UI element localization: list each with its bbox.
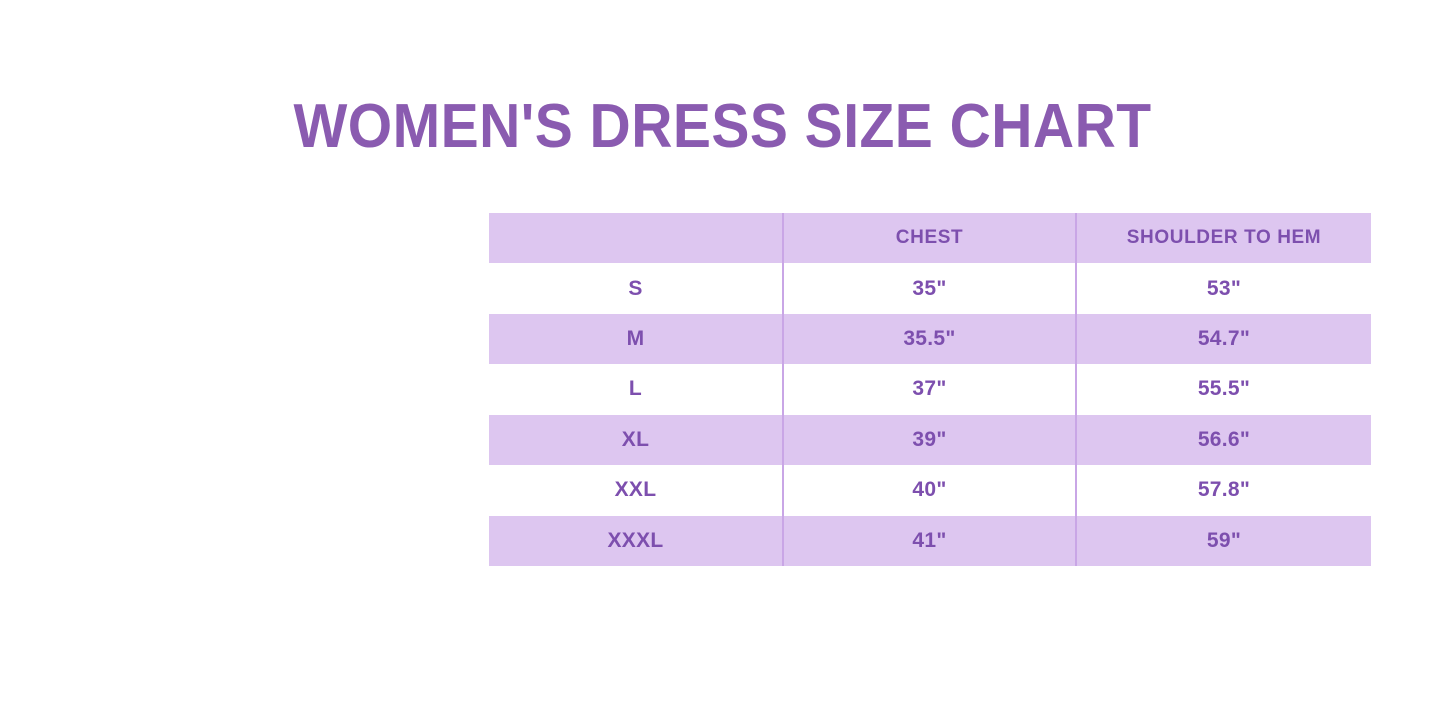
table-header-row: CHEST SHOULDER TO HEM xyxy=(489,213,1371,263)
cell-size: M xyxy=(489,314,783,364)
cell-hem: 59" xyxy=(1076,516,1371,566)
table-row: XL 39" 56.6" xyxy=(489,415,1371,465)
size-chart-table: CHEST SHOULDER TO HEM S 35" 53" M 35.5" … xyxy=(489,213,1371,566)
table-body: S 35" 53" M 35.5" 54.7" L 37" 55.5" XL 3… xyxy=(489,263,1371,566)
table-row: S 35" 53" xyxy=(489,263,1371,313)
cell-hem: 55.5" xyxy=(1076,364,1371,414)
size-chart-page: WOMEN'S DRESS SIZE CHART CHEST SHOULDER … xyxy=(0,0,1445,723)
cell-chest: 41" xyxy=(783,516,1076,566)
column-header-chest: CHEST xyxy=(783,213,1076,263)
cell-size: S xyxy=(489,263,783,313)
page-title: WOMEN'S DRESS SIZE CHART xyxy=(58,96,1387,158)
cell-size: XXXL xyxy=(489,516,783,566)
cell-hem: 53" xyxy=(1076,263,1371,313)
cell-chest: 35.5" xyxy=(783,314,1076,364)
table-row: L 37" 55.5" xyxy=(489,364,1371,414)
cell-hem: 57.8" xyxy=(1076,465,1371,515)
cell-chest: 37" xyxy=(783,364,1076,414)
column-header-shoulder-to-hem: SHOULDER TO HEM xyxy=(1076,213,1371,263)
cell-hem: 54.7" xyxy=(1076,314,1371,364)
cell-chest: 35" xyxy=(783,263,1076,313)
table-header: CHEST SHOULDER TO HEM xyxy=(489,213,1371,263)
cell-size: XL xyxy=(489,415,783,465)
table-row: M 35.5" 54.7" xyxy=(489,314,1371,364)
cell-hem: 56.6" xyxy=(1076,415,1371,465)
table-row: XXXL 41" 59" xyxy=(489,516,1371,566)
table-row: XXL 40" 57.8" xyxy=(489,465,1371,515)
cell-chest: 39" xyxy=(783,415,1076,465)
cell-size: XXL xyxy=(489,465,783,515)
cell-chest: 40" xyxy=(783,465,1076,515)
column-header-size xyxy=(489,213,783,263)
cell-size: L xyxy=(489,364,783,414)
size-chart-table-container: CHEST SHOULDER TO HEM S 35" 53" M 35.5" … xyxy=(489,213,1371,566)
